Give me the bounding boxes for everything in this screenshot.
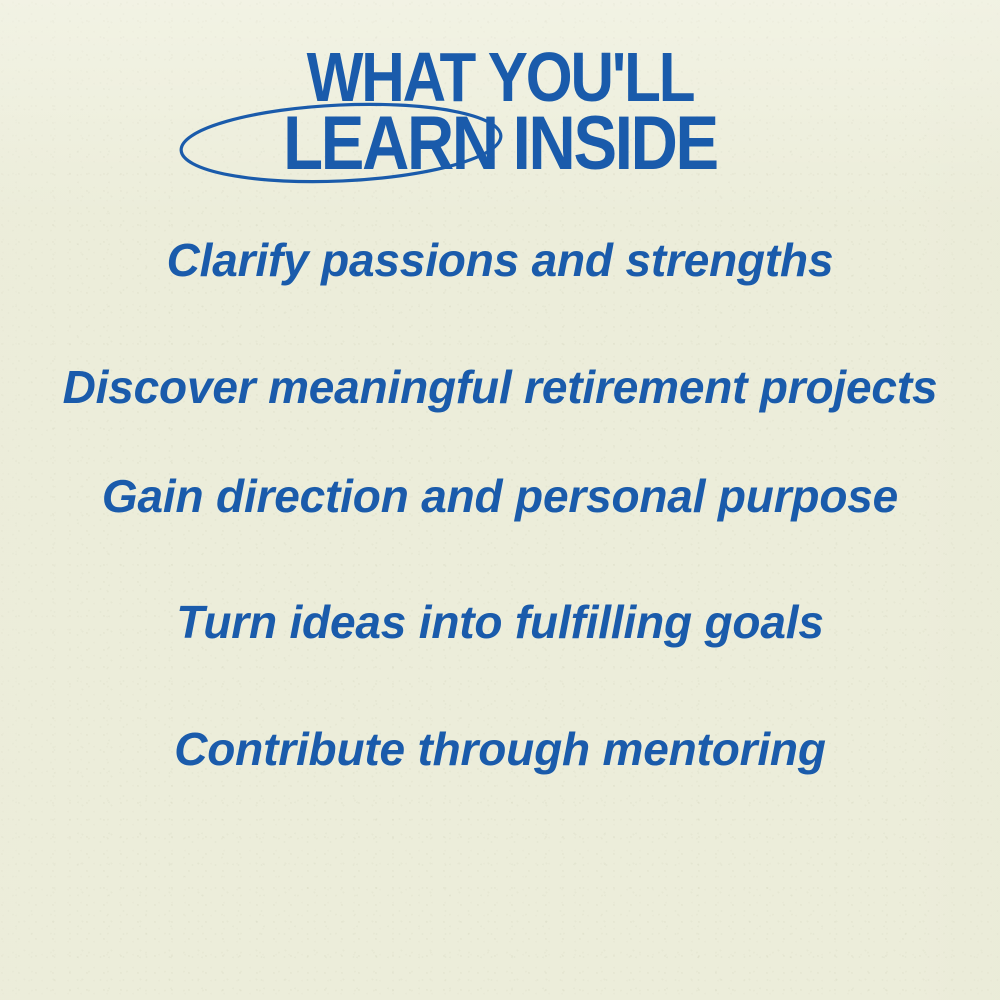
page-title: WHAT YOU'LL LEARN INSIDE	[0, 44, 1000, 181]
list-item: Turn ideas into fulfilling goals	[40, 598, 960, 647]
benefits-list: Clarify passions and strengths Discover …	[40, 236, 960, 774]
list-item: Discover meaningful retirement projects	[40, 363, 960, 412]
poster-canvas: WHAT YOU'LL LEARN INSIDE Clarify passion…	[0, 0, 1000, 1000]
list-item: Contribute through mentoring	[40, 725, 960, 774]
list-item: Clarify passions and strengths	[40, 236, 960, 285]
list-item: Gain direction and personal purpose	[40, 472, 960, 521]
page-title-line-2: LEARN INSIDE	[70, 108, 930, 181]
